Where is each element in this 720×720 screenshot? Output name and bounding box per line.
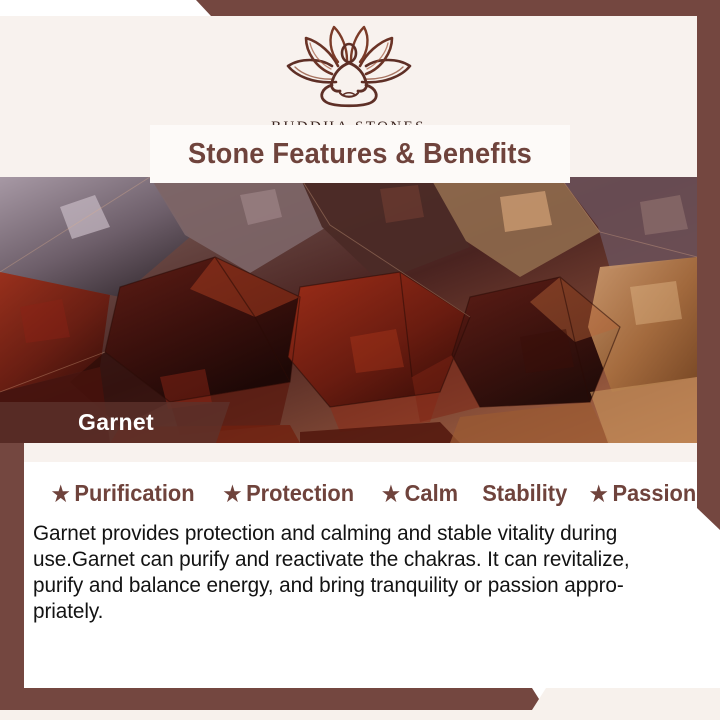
decor-bottom-right-corner — [532, 688, 720, 710]
benefit-label: Purification — [74, 480, 194, 507]
decor-bottom-edge — [0, 710, 720, 720]
stone-name-banner: Garnet — [0, 402, 230, 443]
benefit-item: ★Purification — [52, 480, 195, 507]
benefit-item: ★Passion — [590, 480, 696, 507]
benefit-item: ★Protection — [224, 480, 355, 507]
decor-right-strip — [697, 0, 720, 530]
stone-name: Garnet — [78, 409, 154, 436]
benefits-list: ★Purification★Protection★CalmStability★P… — [48, 480, 678, 507]
page-title: Stone Features & Benefits — [188, 138, 532, 171]
benefit-item: ★Calm — [382, 480, 458, 507]
benefit-item: Stability — [482, 480, 567, 507]
benefit-label: Calm — [405, 480, 458, 507]
lotus-meditation-icon — [0, 22, 697, 115]
benefit-label: Stability — [482, 480, 567, 507]
brand-logo: BUDDHA STONES — [0, 22, 697, 136]
stone-description: Garnet provides protection and calming a… — [33, 520, 665, 624]
decor-cream-strip — [24, 443, 697, 462]
infographic-card: BUDDHA STONES Stone Features & Benefits — [0, 0, 720, 720]
decor-top-band — [0, 0, 720, 16]
decor-left-strip — [0, 443, 24, 688]
benefit-label: Passion — [613, 480, 697, 507]
title-banner: Stone Features & Benefits — [150, 125, 570, 183]
star-icon: ★ — [382, 484, 400, 505]
benefit-label: Protection — [246, 480, 354, 507]
star-icon: ★ — [224, 484, 242, 505]
star-icon: ★ — [590, 484, 608, 505]
star-icon: ★ — [52, 484, 70, 505]
